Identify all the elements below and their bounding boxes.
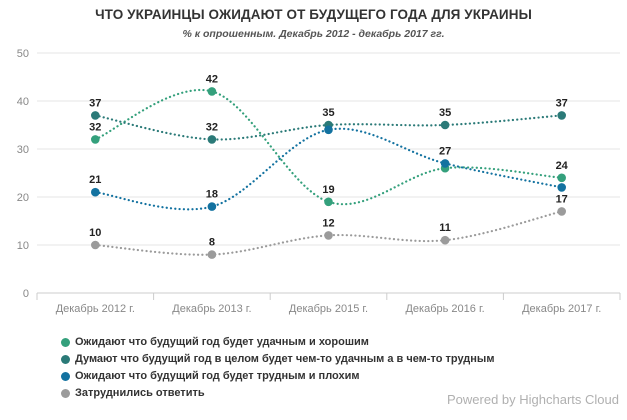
legend-label: Ожидают что будущий год будет трудным и … [75, 369, 360, 383]
data-point-label: 42 [206, 73, 218, 85]
legend-label: Думают что будущий год в целом будет чем… [75, 352, 494, 366]
legend-marker-icon [55, 355, 75, 364]
data-point-marker[interactable] [208, 135, 217, 144]
data-point-label: 18 [206, 189, 218, 201]
data-point-marker[interactable] [208, 87, 217, 96]
data-point-marker[interactable] [208, 250, 217, 259]
data-point-label: 32 [206, 121, 218, 133]
legend-marker-icon [55, 372, 75, 381]
data-point-label: 27 [439, 145, 451, 157]
data-point-label: 37 [89, 97, 101, 109]
y-axis-tick-label: 0 [23, 288, 29, 300]
x-axis-tick-label: Декабрь 2015 г. [289, 303, 368, 315]
y-axis-tick-label: 50 [17, 48, 29, 60]
grid-lines [37, 53, 620, 245]
data-point-label: 12 [322, 217, 334, 229]
legend-marker-icon [55, 338, 75, 347]
legend-item[interactable]: Ожидают что будущий год будет трудным и … [55, 368, 595, 384]
chart-container: ЧТО УКРАИНЦЫ ОЖИДАЮТ ОТ БУДУЩЕГО ГОДА ДЛ… [0, 0, 627, 420]
data-point-marker[interactable] [441, 236, 450, 245]
data-point-marker[interactable] [324, 231, 333, 240]
data-point-label: 35 [322, 107, 334, 119]
legend-label: Затруднились ответить [75, 386, 205, 400]
data-point-label: 35 [439, 107, 451, 119]
data-point-marker[interactable] [441, 159, 450, 168]
legend-item[interactable]: Ожидают что будущий год будет удачным и … [55, 334, 595, 350]
legend-dot [61, 389, 70, 398]
data-point-marker[interactable] [441, 121, 450, 130]
data-point-labels: 324219243732353537211827108121117 [89, 73, 569, 248]
x-axis-tick-label: Декабрь 2016 г. [405, 303, 484, 315]
data-point-marker[interactable] [557, 207, 566, 216]
data-point-label: 17 [556, 193, 568, 205]
legend-dot [61, 372, 70, 381]
data-point-label: 37 [556, 97, 568, 109]
x-axis-tick-label: Декабрь 2017 г. [522, 303, 601, 315]
y-axis-tick-labels: 01020304050 [17, 48, 29, 300]
data-point-marker[interactable] [91, 241, 100, 250]
data-point-marker[interactable] [557, 183, 566, 192]
legend-dot [61, 338, 70, 347]
y-axis-tick-label: 20 [17, 192, 29, 204]
y-axis-tick-label: 40 [17, 96, 29, 108]
x-axis-tick-labels: Декабрь 2012 г.Декабрь 2013 г.Декабрь 20… [56, 303, 602, 315]
legend-label: Ожидают что будущий год будет удачным и … [75, 335, 369, 349]
x-axis-tick-label: Декабрь 2013 г. [172, 303, 251, 315]
data-point-label: 11 [439, 222, 451, 234]
data-point-marker[interactable] [91, 188, 100, 197]
y-axis-tick-label: 30 [17, 144, 29, 156]
data-point-marker[interactable] [557, 111, 566, 120]
data-point-label: 10 [89, 227, 101, 239]
data-point-marker[interactable] [324, 126, 333, 135]
x-axis-line [37, 293, 620, 300]
data-point-marker[interactable] [557, 174, 566, 183]
legend-marker-icon [55, 389, 75, 398]
data-point-label: 19 [322, 184, 334, 196]
data-point-marker[interactable] [91, 135, 100, 144]
legend-item[interactable]: Думают что будущий год в целом будет чем… [55, 351, 595, 367]
data-point-label: 24 [556, 160, 569, 172]
data-point-marker[interactable] [324, 198, 333, 207]
legend-dot [61, 355, 70, 364]
credits-label: Powered by Highcharts Cloud [447, 392, 619, 407]
data-point-label: 21 [89, 174, 101, 186]
x-axis-tick-label: Декабрь 2012 г. [56, 303, 135, 315]
y-axis-tick-label: 10 [17, 240, 29, 252]
data-point-label: 8 [209, 237, 215, 249]
data-point-marker[interactable] [91, 111, 100, 120]
data-point-marker[interactable] [208, 202, 217, 211]
data-point-label: 32 [89, 121, 101, 133]
